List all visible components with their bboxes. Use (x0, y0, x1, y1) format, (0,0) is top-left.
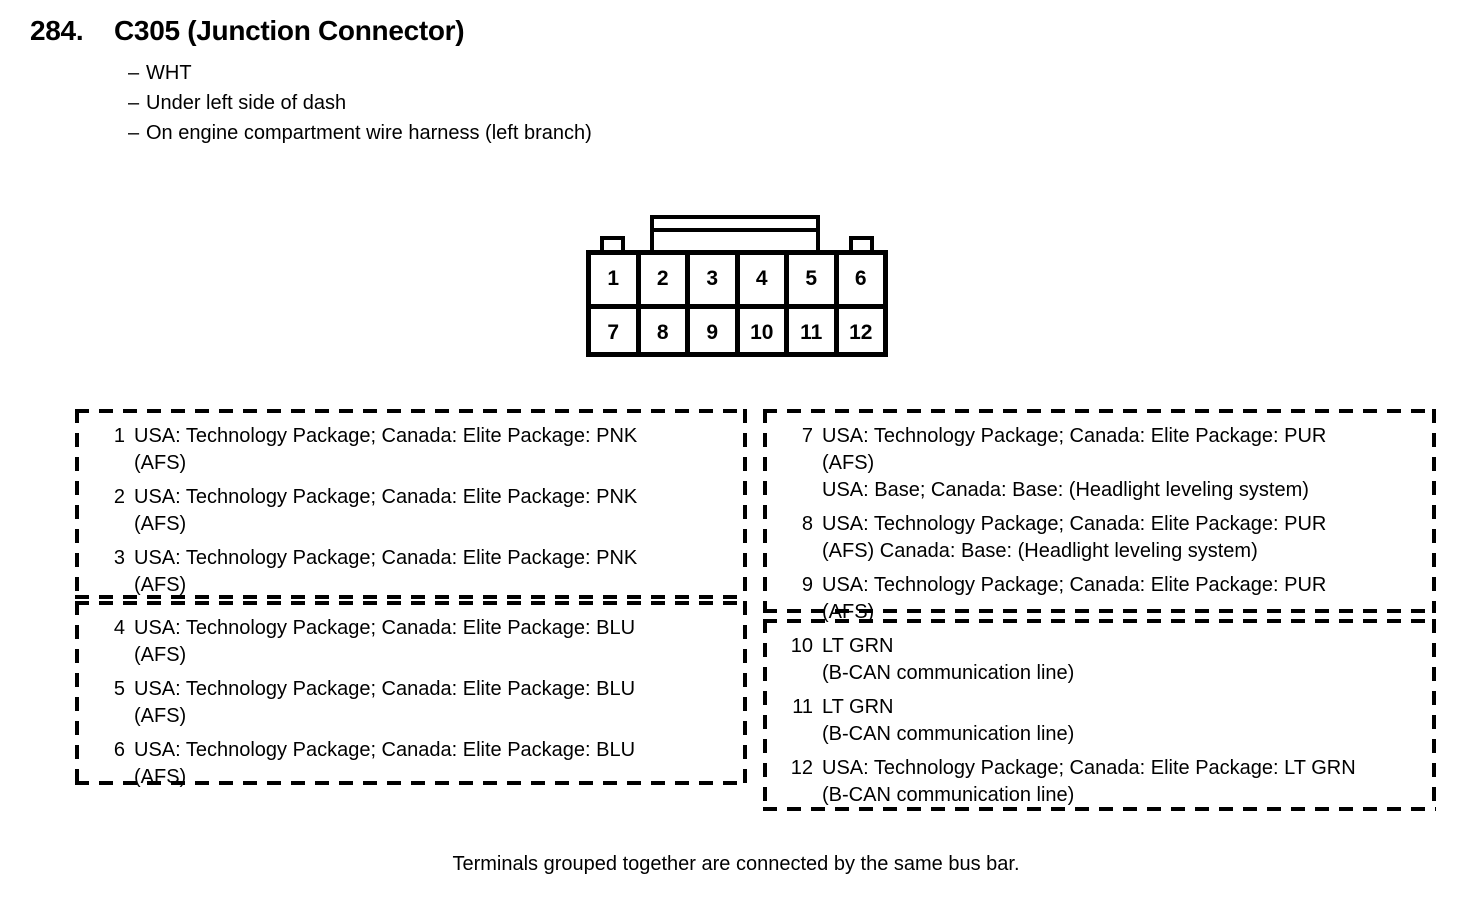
connector-description-list: –WHT–Under left side of dash–On engine c… (128, 58, 930, 148)
connector-pin-6: 6 (839, 255, 884, 304)
terminal-description: USA: Technology Package; Canada: Elite P… (134, 615, 635, 669)
terminal-description: USA: Technology Package; Canada: Elite P… (134, 737, 635, 791)
terminal-number: 6 (97, 737, 134, 764)
terminal-number: 2 (97, 484, 134, 511)
terminal-list-4: 10LT GRN(B-CAN communication line)11LT G… (763, 619, 1436, 819)
connector-pin-10: 10 (740, 309, 790, 358)
terminal-number: 5 (97, 676, 134, 703)
connector-pin-11: 11 (789, 309, 839, 358)
description-item: –Under left side of dash (128, 88, 930, 118)
terminal-description-line: USA: Technology Package; Canada: Elite P… (134, 615, 635, 642)
terminal-number: 4 (97, 615, 134, 642)
connector-pin-9: 9 (690, 309, 740, 358)
terminal-description: USA: Technology Package; Canada: Elite P… (822, 423, 1326, 504)
connector-top-shroud (650, 215, 820, 250)
connector-pin-row: 123456 (591, 255, 883, 309)
terminal-description-line: USA: Technology Package; Canada: Elite P… (822, 423, 1326, 450)
terminal-item: 3USA: Technology Package; Canada: Elite … (97, 545, 737, 599)
terminal-description-line: USA: Technology Package; Canada: Elite P… (822, 511, 1326, 538)
terminal-description-line: (AFS) (134, 450, 637, 477)
connector-pin-row: 789101112 (591, 309, 883, 358)
terminal-description-line: (B-CAN communication line) (822, 721, 1074, 748)
terminal-item: 4USA: Technology Package; Canada: Elite … (97, 615, 737, 669)
terminal-list-1: 1USA: Technology Package; Canada: Elite … (75, 409, 747, 609)
terminal-description: LT GRN(B-CAN communication line) (822, 694, 1074, 748)
terminal-item: 10LT GRN(B-CAN communication line) (785, 633, 1426, 687)
page-title-name: C305 (Junction Connector) (114, 15, 464, 46)
terminal-item: 2USA: Technology Package; Canada: Elite … (97, 484, 737, 538)
terminal-description: USA: Technology Package; Canada: Elite P… (822, 572, 1326, 626)
terminal-number: 10 (785, 633, 822, 660)
terminal-description-line: USA: Technology Package; Canada: Elite P… (822, 755, 1356, 782)
description-item-label: Under left side of dash (146, 92, 346, 114)
terminal-list-2: 4USA: Technology Package; Canada: Elite … (75, 601, 747, 801)
terminal-description-line: (AFS) (134, 572, 637, 599)
dash-bullet-icon: – (128, 118, 146, 148)
terminal-number: 11 (785, 694, 822, 721)
terminal-description: USA: Technology Package; Canada: Elite P… (134, 484, 637, 538)
terminal-description: USA: Technology Package; Canada: Elite P… (822, 755, 1356, 809)
terminal-description: USA: Technology Package; Canada: Elite P… (134, 545, 637, 599)
description-item-label: On engine compartment wire harness (left… (146, 122, 592, 144)
description-item: –WHT (128, 58, 930, 88)
terminal-item: 6USA: Technology Package; Canada: Elite … (97, 737, 737, 791)
connector-pin-1: 1 (591, 255, 641, 304)
connector-pin-8: 8 (641, 309, 691, 358)
connector-diagram: 123456789101112 (586, 215, 888, 357)
terminal-description-line: (AFS) (134, 764, 635, 791)
terminal-description-line: (B-CAN communication line) (822, 660, 1074, 687)
terminal-description-line: (AFS) (134, 642, 635, 669)
terminal-description-line: LT GRN (822, 694, 1074, 721)
terminal-number: 1 (97, 423, 134, 450)
description-item: –On engine compartment wire harness (lef… (128, 118, 930, 148)
terminal-item: 9USA: Technology Package; Canada: Elite … (785, 572, 1426, 626)
terminal-description: USA: Technology Package; Canada: Elite P… (134, 676, 635, 730)
terminal-item: 1USA: Technology Package; Canada: Elite … (97, 423, 737, 477)
footer-note: Terminals grouped together are connected… (0, 853, 1472, 876)
terminal-description: LT GRN(B-CAN communication line) (822, 633, 1074, 687)
connector-shroud-line (654, 228, 816, 232)
terminal-group-box-1: 1USA: Technology Package; Canada: Elite … (75, 409, 747, 599)
terminal-item: 8USA: Technology Package; Canada: Elite … (785, 511, 1426, 565)
dash-bullet-icon: – (128, 88, 146, 118)
terminal-description-line: (AFS) (822, 450, 1326, 477)
terminal-description-line: USA: Base; Canada: Base: (Headlight leve… (822, 477, 1326, 504)
connector-pin-4: 4 (740, 255, 790, 304)
page-title: 284.C305 (Junction Connector) (30, 14, 930, 48)
terminal-item: 5USA: Technology Package; Canada: Elite … (97, 676, 737, 730)
terminal-group-box-3: 7USA: Technology Package; Canada: Elite … (763, 409, 1436, 613)
title-block: 284.C305 (Junction Connector) –WHT–Under… (30, 14, 930, 148)
terminal-description-line: USA: Technology Package; Canada: Elite P… (134, 676, 635, 703)
terminal-group-box-4: 10LT GRN(B-CAN communication line)11LT G… (763, 619, 1436, 811)
terminal-number: 8 (785, 511, 822, 538)
terminal-item: 12USA: Technology Package; Canada: Elite… (785, 755, 1426, 809)
terminal-description-line: USA: Technology Package; Canada: Elite P… (134, 545, 637, 572)
terminal-description-line: USA: Technology Package; Canada: Elite P… (134, 737, 635, 764)
terminal-description-line: (AFS) Canada: Base: (Headlight leveling … (822, 538, 1326, 565)
description-item-label: WHT (146, 62, 192, 84)
terminal-list-3: 7USA: Technology Package; Canada: Elite … (763, 409, 1436, 636)
terminal-description-line: (B-CAN communication line) (822, 782, 1356, 809)
terminal-description: USA: Technology Package; Canada: Elite P… (822, 511, 1326, 565)
terminal-description-line: (AFS) (134, 511, 637, 538)
connector-pin-5: 5 (789, 255, 839, 304)
connector-pin-3: 3 (690, 255, 740, 304)
terminal-number: 3 (97, 545, 134, 572)
terminal-description-line: USA: Technology Package; Canada: Elite P… (822, 572, 1326, 599)
terminal-item: 11LT GRN(B-CAN communication line) (785, 694, 1426, 748)
connector-pin-grid: 123456789101112 (586, 250, 888, 357)
terminal-item: 7USA: Technology Package; Canada: Elite … (785, 423, 1426, 504)
terminal-description: USA: Technology Package; Canada: Elite P… (134, 423, 637, 477)
terminal-description-line: USA: Technology Package; Canada: Elite P… (134, 423, 637, 450)
page-title-number: 284. (30, 14, 114, 48)
terminal-description-line: (AFS) (134, 703, 635, 730)
terminal-description-line: USA: Technology Package; Canada: Elite P… (134, 484, 637, 511)
connector-pin-7: 7 (591, 309, 641, 358)
connector-pin-2: 2 (641, 255, 691, 304)
terminal-number: 9 (785, 572, 822, 599)
terminal-number: 7 (785, 423, 822, 450)
connector-pin-12: 12 (839, 309, 884, 358)
terminal-group-box-2: 4USA: Technology Package; Canada: Elite … (75, 601, 747, 785)
terminal-number: 12 (785, 755, 822, 782)
terminal-description-line: LT GRN (822, 633, 1074, 660)
dash-bullet-icon: – (128, 58, 146, 88)
